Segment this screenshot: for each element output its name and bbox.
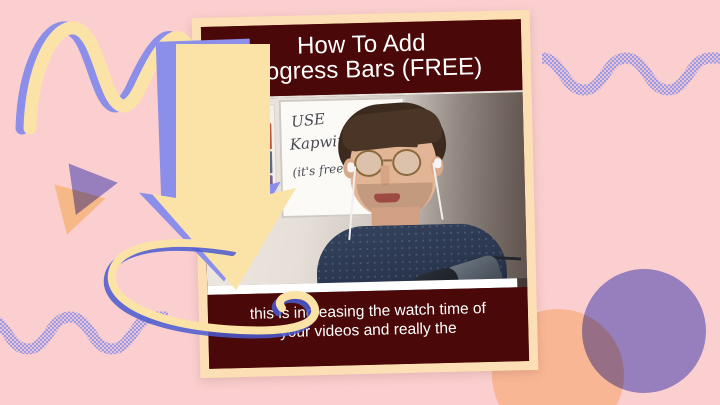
title-line-2: Progress Bars (FREE) <box>212 54 513 87</box>
title-band: How To Add Progress Bars (FREE) <box>201 19 523 98</box>
glasses-bridge <box>383 159 392 162</box>
thumbnail-canvas: How To Add Progress Bars (FREE) USE <box>0 0 720 405</box>
earbud-right-icon <box>434 158 441 168</box>
eyebrow-right <box>394 143 418 148</box>
decorative-triangle-blue <box>69 157 122 215</box>
wall-poster <box>213 104 278 209</box>
mouth <box>374 193 400 203</box>
card-inner: How To Add Progress Bars (FREE) USE <box>201 19 529 369</box>
decorative-circle-blue <box>582 269 706 393</box>
wave-line-top-right-icon <box>538 28 720 118</box>
decorative-triangle-yellow <box>54 173 111 235</box>
video-thumbnail-card[interactable]: How To Add Progress Bars (FREE) USE <box>192 10 539 378</box>
video-frame[interactable]: USE Kapwing! (it's free.) <box>203 90 528 295</box>
caption-band: this is increasing the watch time of you… <box>207 287 529 369</box>
wave-line-bottom-left-icon <box>0 287 176 377</box>
